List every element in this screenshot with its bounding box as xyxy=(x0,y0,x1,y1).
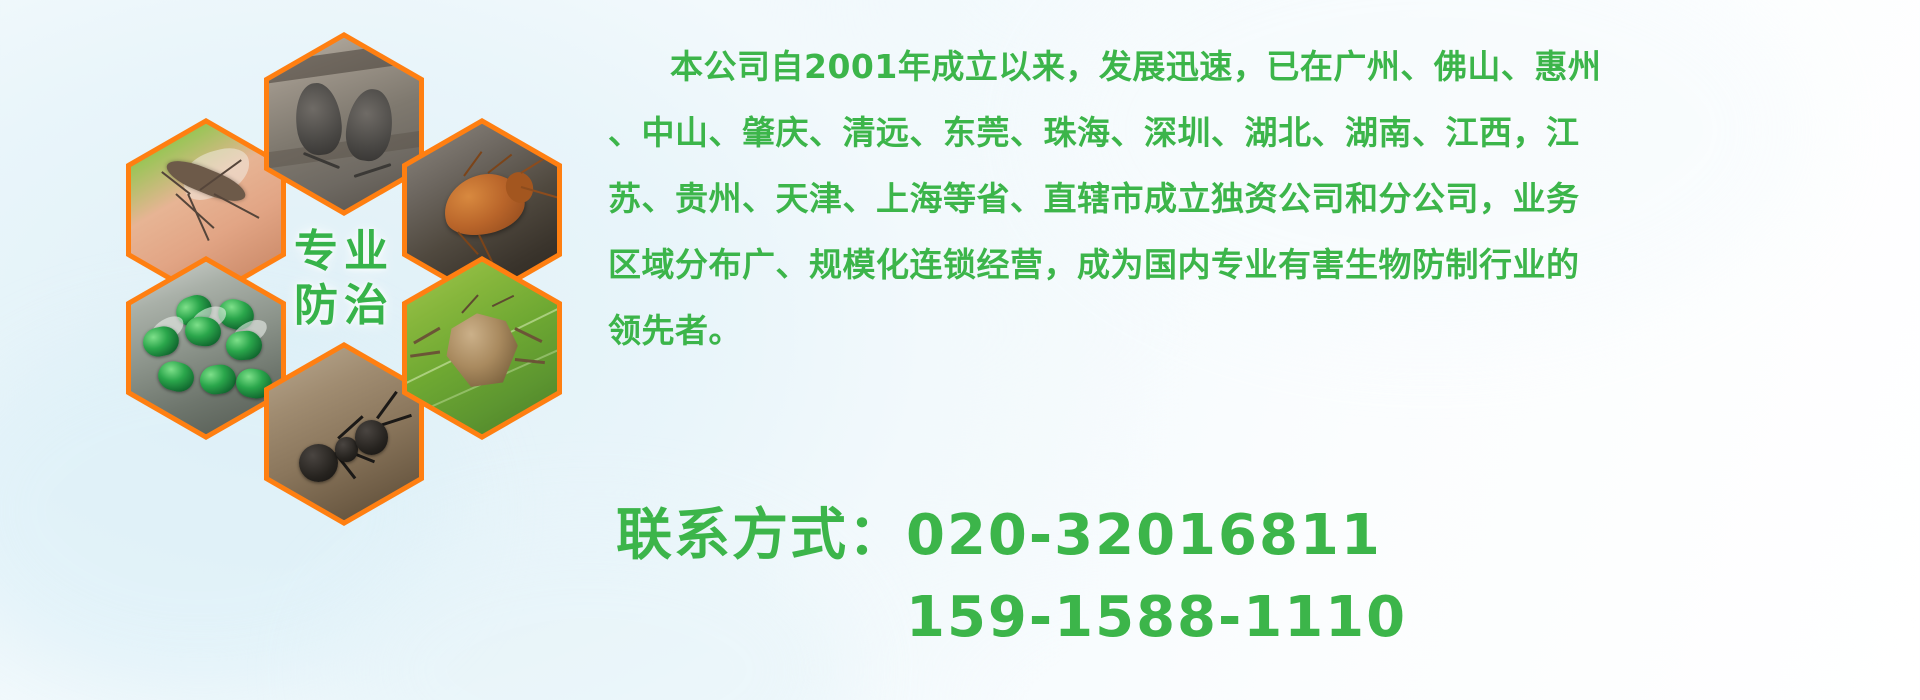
ant-thorax-shape xyxy=(335,437,358,461)
contact-landline[interactable]: 联系方式：020-32016811 xyxy=(616,495,1906,577)
brand-slogan: 专业 防治 xyxy=(264,187,424,371)
hex-cell-stink-bug xyxy=(402,256,562,440)
ant-photo xyxy=(269,348,419,521)
ant-antenna-shape xyxy=(376,391,397,419)
hex-image-stink-bug xyxy=(407,262,557,435)
brand-slogan-line-2: 防治 xyxy=(294,284,394,328)
ant-antenna-shape xyxy=(380,413,412,426)
intro-line: 领先者。 xyxy=(608,298,1876,364)
flies-photo xyxy=(131,262,281,435)
roach-antenna-shape xyxy=(520,147,557,174)
hex-cell-flies xyxy=(126,256,286,440)
intro-line: 区域分布广、规模化连锁经营，成为国内专业有害生物防制行业的 xyxy=(608,232,1876,298)
rat-body-shape xyxy=(342,87,397,165)
contact-block: 联系方式：020-32016811 159-1588-1110 xyxy=(616,495,1906,659)
stink-bug-photo xyxy=(407,262,557,435)
mosquito-leg-shape xyxy=(187,193,210,240)
ant-head-shape xyxy=(355,420,388,455)
fly-body-shape xyxy=(198,363,238,397)
intro-line: 、中山、肇庆、清远、东莞、珠海、深圳、湖北、湖南、江西，江 xyxy=(608,100,1876,166)
stink-bug-antenna-shape xyxy=(461,295,479,314)
stink-bug-body-shape xyxy=(441,309,522,391)
hex-image-flies xyxy=(131,262,281,435)
honeycomb-collage: 专业 防治 xyxy=(92,10,592,570)
pavement-plank-shape xyxy=(269,38,419,86)
brand-slogan-line-1: 专业 xyxy=(294,230,394,274)
pest-control-banner: 专业 防治 本公司自2001年成立以来，发展迅速，已在广州、佛山、惠州 、中山、… xyxy=(0,0,1920,700)
intro-line: 本公司自2001年成立以来，发展迅速，已在广州、佛山、惠州 xyxy=(608,34,1876,100)
intro-line: 苏、贵州、天津、上海等省、直辖市成立独资公司和分公司，业务 xyxy=(608,166,1876,232)
roach-leg-shape xyxy=(487,154,512,174)
company-intro-paragraph: 本公司自2001年成立以来，发展迅速，已在广州、佛山、惠州 、中山、肇庆、清远、… xyxy=(608,34,1876,364)
stink-bug-leg-shape xyxy=(514,327,542,342)
rat-tail-shape xyxy=(353,163,391,178)
rat-body-shape xyxy=(292,80,344,157)
fly-body-shape xyxy=(155,358,197,395)
ant-abdomen-shape xyxy=(299,444,338,482)
contact-mobile[interactable]: 159-1588-1110 xyxy=(616,577,1906,659)
hex-image-ant xyxy=(269,348,419,521)
stink-bug-antenna-shape xyxy=(492,294,514,306)
hex-image-rats xyxy=(269,38,419,211)
roach-leg-shape xyxy=(463,152,482,177)
fly-body-shape xyxy=(225,329,263,361)
rats-photo xyxy=(269,38,419,211)
pavement-plank-shape xyxy=(269,128,419,171)
